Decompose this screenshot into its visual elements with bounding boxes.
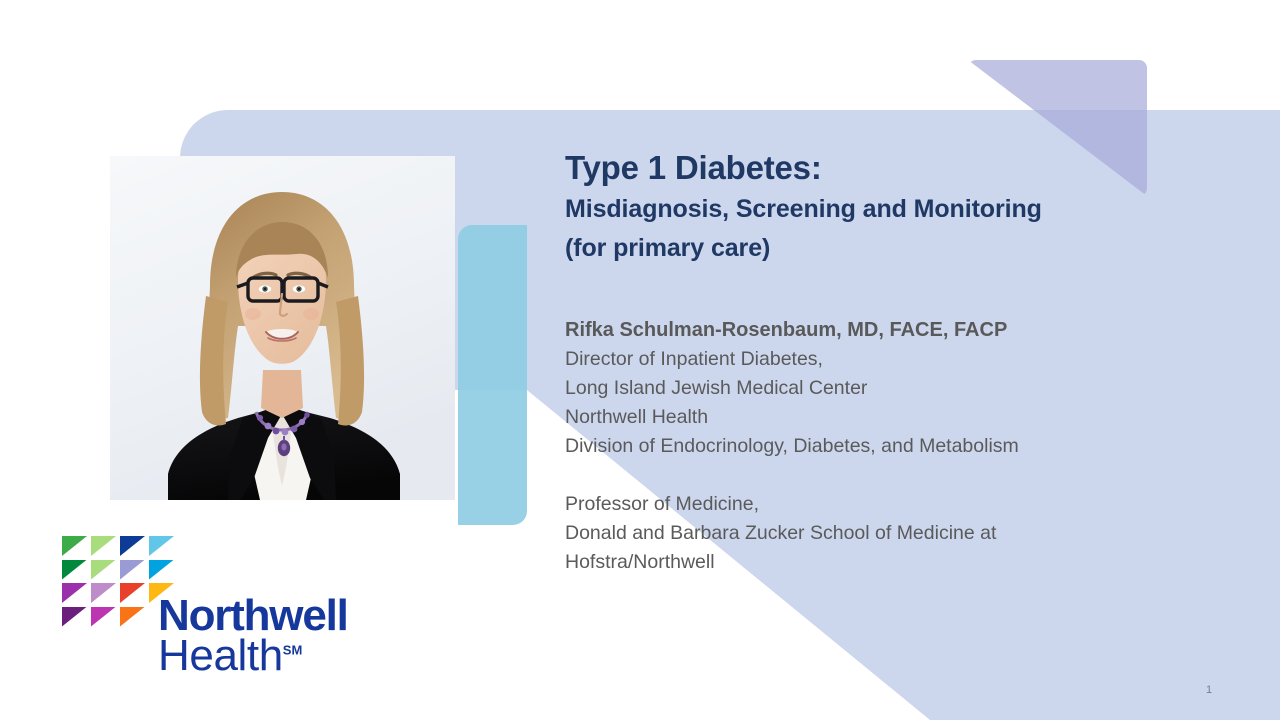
logo-triangle-4 bbox=[149, 536, 174, 556]
logo-triangle-5 bbox=[62, 560, 87, 580]
title-subline-1: Misdiagnosis, Screening and Monitoring bbox=[565, 190, 1185, 230]
logo-wordmark: Northwell HealthSM bbox=[158, 596, 348, 677]
presenter-institution: Long Island Jewish Medical Center bbox=[565, 374, 1205, 403]
presenter-school-line2: Hofstra/Northwell bbox=[565, 548, 1205, 577]
credits-spacer bbox=[565, 461, 1205, 490]
presenter-role: Director of Inpatient Diabetes, bbox=[565, 345, 1205, 374]
title-subline-2: (for primary care) bbox=[565, 229, 1185, 269]
logo-triangle-9 bbox=[62, 583, 87, 603]
logo-wordmark-line1: Northwell bbox=[158, 596, 348, 636]
sky-blue-bar-shape bbox=[458, 225, 527, 525]
presenter-academic-title: Professor of Medicine, bbox=[565, 490, 1205, 519]
logo-triangle-13 bbox=[62, 607, 87, 627]
logo-triangle-3 bbox=[120, 536, 145, 556]
logo-triangle-14 bbox=[91, 607, 116, 627]
presenter-school-line1: Donald and Barbara Zucker School of Medi… bbox=[565, 519, 1205, 548]
slide-number: 1 bbox=[1206, 684, 1212, 696]
northwell-health-logo: Northwell HealthSM bbox=[62, 536, 402, 676]
service-mark: SM bbox=[283, 643, 303, 658]
logo-triangle-7 bbox=[120, 560, 145, 580]
presenter-headshot bbox=[110, 156, 455, 500]
presenter-health-system: Northwell Health bbox=[565, 403, 1205, 432]
slide-title: Type 1 Diabetes: Misdiagnosis, Screening… bbox=[565, 147, 1185, 269]
presentation-slide: Northwell HealthSM Type 1 Diabetes: Misd… bbox=[0, 0, 1280, 720]
logo-triangle-8 bbox=[149, 560, 174, 580]
logo-triangle-1 bbox=[62, 536, 87, 556]
title-main-line: Type 1 Diabetes: bbox=[565, 147, 1185, 190]
logo-triangle-11 bbox=[120, 583, 145, 603]
presenter-name: Rifka Schulman-Rosenbaum, MD, FACE, FACP bbox=[565, 316, 1205, 345]
presenter-division: Division of Endocrinology, Diabetes, and… bbox=[565, 432, 1205, 461]
presenter-credits: Rifka Schulman-Rosenbaum, MD, FACE, FACP… bbox=[565, 316, 1205, 577]
logo-wordmark-line2: HealthSM bbox=[158, 636, 348, 676]
logo-triangle-10 bbox=[91, 583, 116, 603]
logo-triangle-15 bbox=[120, 607, 145, 627]
logo-triangle-2 bbox=[91, 536, 116, 556]
logo-triangle-6 bbox=[91, 560, 116, 580]
